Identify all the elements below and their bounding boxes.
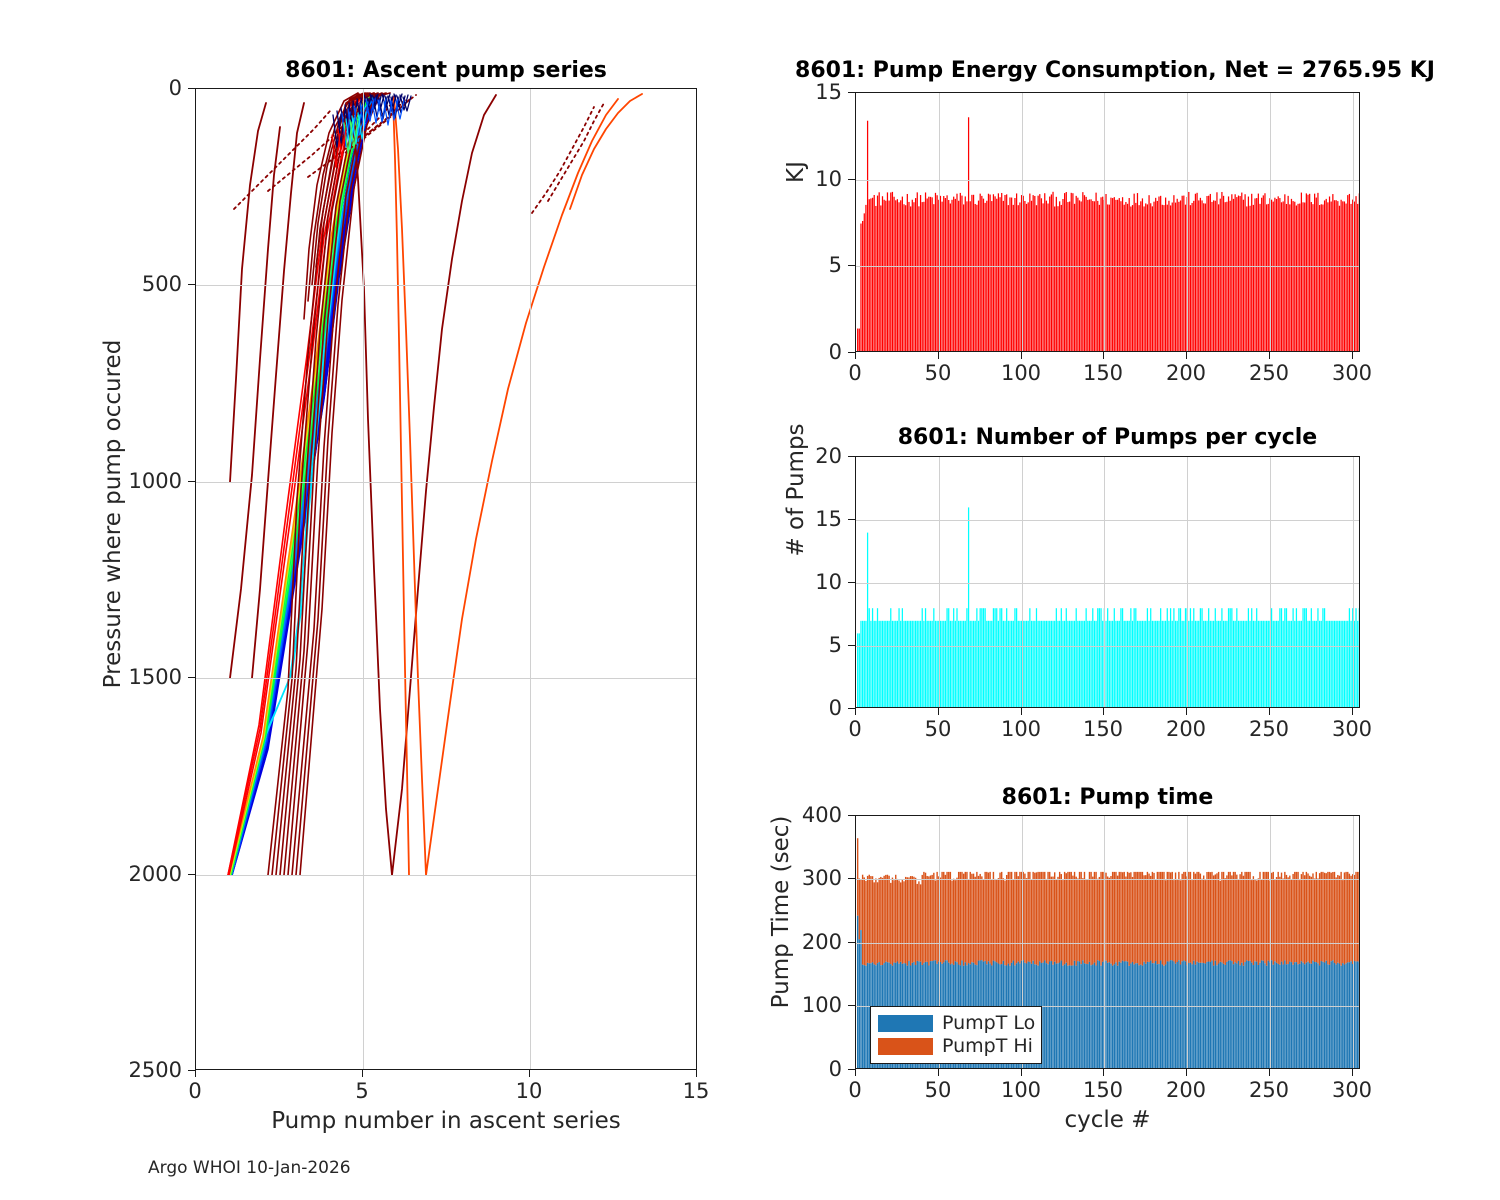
pumps-xticklabel-250: 250	[1249, 717, 1289, 741]
pumptime-xticklabel-0: 0	[848, 1078, 861, 1102]
energy-ytick-15	[848, 92, 855, 93]
pumps-gridline-y5	[856, 646, 1359, 647]
ascent-yaxis-label: Pressure where pump occured	[100, 134, 126, 894]
pumps-xtick-0	[855, 708, 856, 715]
pumptime-xticklabel-150: 150	[1083, 1078, 1123, 1102]
pumptime-ytick-400	[848, 815, 855, 816]
ascent-gridline-y1500	[196, 678, 696, 679]
ascent-gridline-y500	[196, 285, 696, 286]
pumps-gridline-x50	[939, 457, 940, 707]
pumptime-gridline-x250	[1270, 816, 1271, 1068]
legend-swatch-pumpt-hi	[878, 1038, 933, 1055]
pumps-gridline-x200	[1187, 457, 1188, 707]
pumptime-xtick-300	[1352, 1069, 1353, 1076]
energy-ytick-10	[848, 179, 855, 180]
pumps-ytick-5	[848, 645, 855, 646]
energy-gridline-x50	[939, 93, 940, 351]
pumptime-ytick-300	[848, 878, 855, 879]
pumps-xticklabel-50: 50	[925, 717, 952, 741]
pumps-axes	[855, 456, 1360, 708]
energy-xtick-200	[1186, 352, 1187, 359]
ascent-xtick-0	[195, 1070, 196, 1077]
energy-xticklabel-250: 250	[1249, 361, 1289, 385]
pumps-xtick-300	[1352, 708, 1353, 715]
energy-ytick-5	[848, 265, 855, 266]
pumptime-gridline-y200	[856, 943, 1359, 944]
energy-gridline-x200	[1187, 93, 1188, 351]
ascent-xaxis-label: Pump number in ascent series	[195, 1108, 697, 1134]
pumps-gridline-x250	[1270, 457, 1271, 707]
energy-xticklabel-50: 50	[925, 361, 952, 385]
energy-gridline-x300	[1353, 93, 1354, 351]
energy-axes	[855, 92, 1360, 352]
energy-gridline-x150	[1104, 93, 1105, 351]
pumptime-xtick-100	[1021, 1069, 1022, 1076]
pumps-xtick-250	[1269, 708, 1270, 715]
energy-xtick-300	[1352, 352, 1353, 359]
legend-item-pumpt-hi: PumpT Hi	[878, 1035, 1032, 1058]
pumps-xtick-200	[1186, 708, 1187, 715]
ascent-ytick-1000	[188, 481, 195, 482]
pumps-xticklabel-200: 200	[1166, 717, 1206, 741]
legend-swatch-pumpt-lo	[878, 1015, 933, 1032]
ascent-ytick-500	[188, 284, 195, 285]
pumps-gridline-x150	[1104, 457, 1105, 707]
pumptime-xticklabel-100: 100	[1001, 1078, 1041, 1102]
pumps-ytick-15	[848, 519, 855, 520]
ascent-xticklabel-5: 5	[355, 1079, 368, 1103]
pumps-gridline-y10	[856, 583, 1359, 584]
pumptime-xticklabel-300: 300	[1332, 1078, 1372, 1102]
ascent-gridline-x5	[363, 89, 364, 1069]
pumps-gridline-x300	[1353, 457, 1354, 707]
pumptime-gridline-x150	[1104, 816, 1105, 1068]
ascent-xtick-10	[529, 1070, 530, 1077]
energy-xticklabel-100: 100	[1001, 361, 1041, 385]
pumps-xtick-150	[1103, 708, 1104, 715]
energy-gridline-y10	[856, 180, 1359, 181]
energy-yaxis-label: KJ	[783, 82, 809, 262]
energy-xticklabel-300: 300	[1332, 361, 1372, 385]
pumptime-xtick-200	[1186, 1069, 1187, 1076]
ascent-gridline-x10	[530, 89, 531, 1069]
energy-panel-title: 8601: Pump Energy Consumption, Net = 276…	[745, 58, 1485, 83]
ascent-xticklabel-10: 10	[516, 1079, 543, 1103]
pumptime-gridline-x200	[1187, 816, 1188, 1068]
ascent-yticklabel-0: 0	[110, 76, 182, 100]
pumps-yticklabel-0: 0	[790, 696, 842, 720]
pumptime-yaxis-label: Pump Time (sec)	[768, 762, 794, 1062]
energy-xtick-0	[855, 352, 856, 359]
pumptime-xtick-50	[938, 1069, 939, 1076]
pumptime-xtick-0	[855, 1069, 856, 1076]
ascent-trajectories	[196, 89, 697, 1070]
ascent-ytick-2500	[188, 1070, 195, 1071]
pumps-xtick-50	[938, 708, 939, 715]
energy-bars	[856, 93, 1360, 352]
pumptime-xtick-150	[1103, 1069, 1104, 1076]
pumptime-ytick-0	[848, 1069, 855, 1070]
pumps-xticklabel-150: 150	[1083, 717, 1123, 741]
pumptime-legend: PumpT Lo PumpT Hi	[870, 1006, 1042, 1064]
pumps-ytick-10	[848, 582, 855, 583]
pumps-gridline-y15	[856, 520, 1359, 521]
pumptime-ytick-200	[848, 942, 855, 943]
ascent-xticklabel-0: 0	[188, 1079, 201, 1103]
energy-xtick-100	[1021, 352, 1022, 359]
ascent-panel-title: 8601: Ascent pump series	[195, 58, 697, 83]
pumptime-xticklabel-200: 200	[1166, 1078, 1206, 1102]
pumps-panel-title: 8601: Number of Pumps per cycle	[855, 425, 1360, 450]
ascent-ytick-1500	[188, 677, 195, 678]
ascent-ytick-0	[188, 88, 195, 89]
pumps-xtick-100	[1021, 708, 1022, 715]
ascent-axes	[195, 88, 697, 1070]
pumptime-gridline-y300	[856, 879, 1359, 880]
energy-xticklabel-200: 200	[1166, 361, 1206, 385]
energy-xtick-50	[938, 352, 939, 359]
pumptime-xaxis-label: cycle #	[855, 1107, 1360, 1133]
energy-xticklabel-0: 0	[848, 361, 861, 385]
energy-xticklabel-150: 150	[1083, 361, 1123, 385]
ascent-xtick-15	[696, 1070, 697, 1077]
ascent-xticklabel-15: 15	[683, 1079, 710, 1103]
energy-xtick-250	[1269, 352, 1270, 359]
pumps-ytick-0	[848, 708, 855, 709]
pumps-gridline-x100	[1022, 457, 1023, 707]
ascent-yticklabel-2500: 2500	[110, 1058, 182, 1082]
legend-item-pumpt-lo: PumpT Lo	[878, 1012, 1032, 1035]
energy-gridline-x100	[1022, 93, 1023, 351]
ascent-gridline-y1000	[196, 482, 696, 483]
legend-label-pumpt-hi: PumpT Hi	[942, 1037, 1033, 1056]
ascent-xtick-5	[362, 1070, 363, 1077]
energy-ytick-0	[848, 352, 855, 353]
pumps-ytick-20	[848, 456, 855, 457]
ascent-gridline-y2000	[196, 875, 696, 876]
ascent-ytick-2000	[188, 874, 195, 875]
pumps-xticklabel-300: 300	[1332, 717, 1372, 741]
pumptime-xtick-250	[1269, 1069, 1270, 1076]
pumptime-xticklabel-250: 250	[1249, 1078, 1289, 1102]
pumptime-ytick-100	[848, 1005, 855, 1006]
pumps-xticklabel-100: 100	[1001, 717, 1041, 741]
pumptime-panel-title: 8601: Pump time	[855, 785, 1360, 810]
figure-footer: Argo WHOI 10-Jan-2026	[148, 1158, 351, 1178]
energy-gridline-x250	[1270, 93, 1271, 351]
energy-gridline-y5	[856, 266, 1359, 267]
pumptime-gridline-x300	[1353, 816, 1354, 1068]
pumps-yaxis-label: # of Pumps	[783, 330, 809, 650]
pumps-xticklabel-0: 0	[848, 717, 861, 741]
pumptime-xticklabel-50: 50	[925, 1078, 952, 1102]
legend-label-pumpt-lo: PumpT Lo	[942, 1014, 1035, 1033]
energy-xtick-150	[1103, 352, 1104, 359]
